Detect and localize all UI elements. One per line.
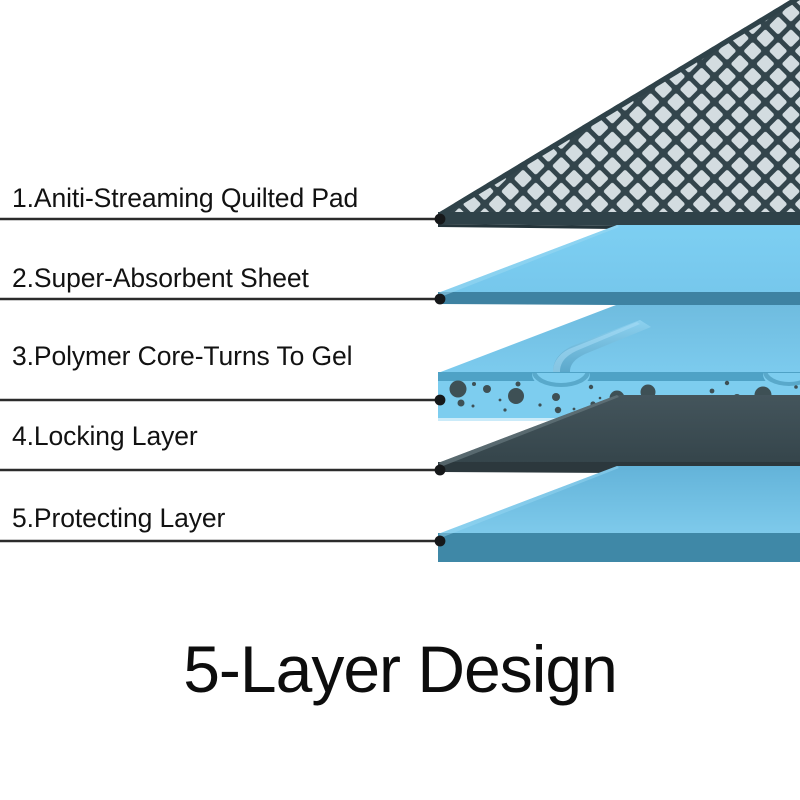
layer-label-1: 1.Aniti-Streaming Quilted Pad [12, 183, 358, 214]
layer-5-protecting-layer [438, 466, 800, 562]
leader-dot-1 [435, 214, 446, 225]
layer-label-5: 5.Protecting Layer [12, 503, 225, 534]
leader-dot-4 [435, 465, 446, 476]
layer-label-4: 4.Locking Layer [12, 421, 198, 452]
layer-label-3: 3.Polymer Core-Turns To Gel [12, 341, 352, 372]
diagram-title: 5-Layer Design [0, 636, 800, 702]
layer-1-quilted-pad [438, 0, 800, 231]
layer-2-absorbent-sheet [438, 225, 800, 306]
leader-dot-5 [435, 536, 446, 547]
leader-dot-3 [435, 395, 446, 406]
layered-product-diagram: 1.Aniti-Streaming Quilted Pad 2.Super-Ab… [0, 0, 800, 800]
leader-dot-2 [435, 294, 446, 305]
layer-label-2: 2.Super-Absorbent Sheet [12, 263, 309, 294]
